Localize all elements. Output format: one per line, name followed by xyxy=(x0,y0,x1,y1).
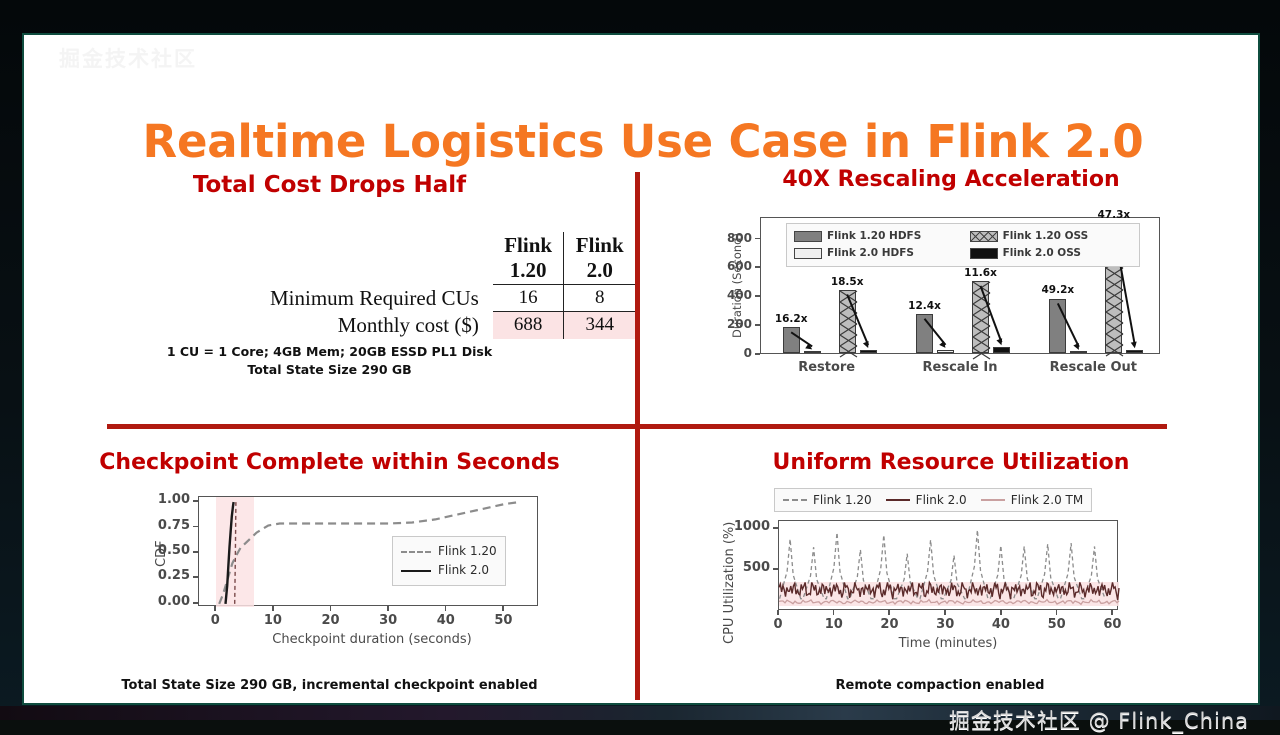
quadrant-resource-utilization: Uniform Resource Utilization CPU Utiliza… xyxy=(640,450,1262,700)
cpu-xtick-mark xyxy=(777,610,779,615)
cost-table: Flink 1.20 Flink 2.0 Minimum Required CU… xyxy=(270,232,635,339)
watermark-top-left: 掘金技术社区 xyxy=(59,43,197,73)
cdf-ytick-mark xyxy=(193,551,198,553)
legend-label: Flink 2.0 HDFS xyxy=(827,247,914,259)
cpu-xtick-mark xyxy=(944,610,946,615)
cpu-legend-item: Flink 2.0 xyxy=(886,493,967,507)
legend-label: Flink 2.0 xyxy=(438,561,489,580)
table-corner-cell xyxy=(270,232,493,285)
bar-legend-row: Flink 2.0 HDFSFlink 2.0 OSS xyxy=(793,245,1133,262)
quadrant3-title: Checkpoint Complete within Seconds xyxy=(24,450,635,475)
legend-swatch-icon xyxy=(794,248,822,259)
legend-label: Flink 2.0 TM xyxy=(1011,493,1084,507)
legend-line-icon xyxy=(783,499,807,501)
cell-monthly-cost-flink20: 344 xyxy=(564,312,635,339)
cdf-chart-legend: Flink 1.20Flink 2.0 xyxy=(392,536,506,586)
table-row: Minimum Required CUs 16 8 xyxy=(270,285,635,312)
cdf-xtick-label: 0 xyxy=(199,613,231,628)
cdf-ytick-mark xyxy=(193,576,198,578)
cdf-ytick-mark xyxy=(193,602,198,604)
cell-min-cus-flink120: 16 xyxy=(493,285,564,312)
cpu-chart-figure: CPU Utilization (%) 50010000102030405060… xyxy=(718,490,1188,665)
quadrant4-title: Uniform Resource Utilization xyxy=(640,450,1262,475)
cpu-xtick-mark xyxy=(1111,610,1113,615)
quadrant2-title: 40X Rescaling Acceleration xyxy=(640,167,1262,192)
quadrant1-title: Total Cost Drops Half xyxy=(24,172,635,198)
cpu-chart-legend: Flink 1.20Flink 2.0Flink 2.0 TM xyxy=(774,488,1092,512)
bar-ytick-label: 200 xyxy=(722,317,752,331)
bar-ytick-label: 800 xyxy=(722,231,752,245)
page-title: Realtime Logistics Use Case in Flink 2.0 xyxy=(24,115,1262,168)
quadrant4-caption: Remote compaction enabled xyxy=(640,678,1240,693)
legend-label: Flink 2.0 xyxy=(916,493,967,507)
cdf-xtick-label: 20 xyxy=(315,613,347,628)
cdf-xtick-mark xyxy=(330,606,332,611)
bar-annotation: 47.3x xyxy=(1090,209,1138,221)
cdf-line-Flink-2-0 xyxy=(226,502,234,604)
cdf-legend-item: Flink 2.0 xyxy=(401,561,497,580)
cpu-xtick-label: 10 xyxy=(818,617,850,632)
table-row: Monthly cost ($) 688 344 xyxy=(270,312,635,339)
cpu-ytick-mark xyxy=(773,568,778,570)
cdf-ytick-label: 1.00 xyxy=(148,492,190,507)
quadrant1-note: 1 CU = 1 Core; 4GB Mem; 20GB ESSD PL1 Di… xyxy=(24,343,635,379)
cpu-series-layer xyxy=(779,521,1119,611)
slide-canvas: 掘金技术社区 Realtime Logistics Use Case in Fl… xyxy=(22,33,1260,705)
cdf-xtick-mark xyxy=(445,606,447,611)
cell-monthly-cost-flink120: 688 xyxy=(493,312,564,339)
cpu-ytick-mark xyxy=(773,527,778,529)
cdf-xtick-mark xyxy=(214,606,216,611)
cpu-xtick-label: 60 xyxy=(1096,617,1128,632)
cpu-chart-axes xyxy=(778,520,1118,610)
quadrant3-caption: Total State Size 290 GB, incremental che… xyxy=(24,678,635,693)
legend-line-icon xyxy=(401,570,431,572)
legend-line-icon xyxy=(886,499,910,501)
bar-ytick-mark xyxy=(755,266,760,268)
cdf-chart-xlabel: Checkpoint duration (seconds) xyxy=(172,632,572,647)
cdf-ytick-label: 0.00 xyxy=(148,594,190,609)
bar-ytick-mark xyxy=(755,353,760,355)
bar-ytick-mark xyxy=(755,238,760,240)
cdf-xtick-mark xyxy=(387,606,389,611)
legend-swatch-icon xyxy=(970,231,998,242)
bar-legend-row: Flink 1.20 HDFSFlink 1.20 OSS xyxy=(793,228,1133,245)
table-header-row: Flink 1.20 Flink 2.0 xyxy=(270,232,635,285)
bar-ytick-label: 400 xyxy=(722,288,752,302)
bar-ytick-label: 0 xyxy=(722,346,752,360)
slide-frame: 掘金技术社区 Realtime Logistics Use Case in Fl… xyxy=(0,0,1280,720)
note-line-1: 1 CU = 1 Core; 4GB Mem; 20GB ESSD PL1 Di… xyxy=(24,343,635,361)
legend-swatch-icon xyxy=(794,231,822,242)
watermark-bottom-right: 掘金技术社区 @ Flink_China xyxy=(904,705,1249,735)
cpu-xtick-mark xyxy=(1000,610,1002,615)
cdf-ytick-label: 0.25 xyxy=(148,568,190,583)
legend-line-icon xyxy=(981,499,1005,501)
legend-line-icon xyxy=(401,551,431,553)
legend-swatch-icon xyxy=(970,248,998,259)
cdf-legend-item: Flink 1.20 xyxy=(401,542,497,561)
bar-ytick-mark xyxy=(755,295,760,297)
cdf-ytick-mark xyxy=(193,526,198,528)
cdf-ytick-mark xyxy=(193,500,198,502)
legend-label: Flink 1.20 xyxy=(438,542,497,561)
row-label-min-cus: Minimum Required CUs xyxy=(270,285,493,312)
bar-group-label-rescale-out: Rescale Out xyxy=(1027,360,1160,375)
cpu-ytick-label: 500 xyxy=(724,560,770,575)
cell-min-cus-flink20: 8 xyxy=(564,285,635,312)
cpu-line-flink-20-tm xyxy=(779,600,1119,605)
cdf-xtick-label: 30 xyxy=(372,613,404,628)
quadrant-rescaling: 40X Rescaling Acceleration Duration (Sec… xyxy=(640,167,1262,424)
bar-legend-item: Flink 1.20 HDFS xyxy=(793,228,969,245)
cpu-chart-ylabel: CPU Utilization (%) xyxy=(722,522,737,644)
cdf-xtick-mark xyxy=(272,606,274,611)
col-header-flink120: Flink 1.20 xyxy=(493,232,564,285)
bar-legend-item: Flink 1.20 OSS xyxy=(969,228,1133,245)
cdf-xtick-label: 50 xyxy=(487,613,519,628)
legend-label: Flink 1.20 HDFS xyxy=(827,230,921,242)
cpu-xtick-label: 20 xyxy=(873,617,905,632)
bar-legend-item: Flink 2.0 OSS xyxy=(969,245,1133,262)
legend-label: Flink 2.0 OSS xyxy=(1003,247,1081,259)
bar-legend-item: Flink 2.0 HDFS xyxy=(793,245,969,262)
row-label-monthly-cost: Monthly cost ($) xyxy=(270,312,493,339)
cdf-xtick-label: 10 xyxy=(257,613,289,628)
bar-group-label-rescale-in: Rescale In xyxy=(893,360,1026,375)
cdf-line-aux xyxy=(235,502,236,604)
cdf-chart-figure: CDF 0.000.250.500.751.0001020304050Check… xyxy=(152,492,582,652)
quadrant-checkpoint: Checkpoint Complete within Seconds CDF 0… xyxy=(24,450,635,700)
cpu-ytick-label: 1000 xyxy=(724,519,770,534)
legend-label: Flink 1.20 OSS xyxy=(1003,230,1089,242)
bar-group-label-restore: Restore xyxy=(760,360,893,375)
note-line-2: Total State Size 290 GB xyxy=(24,361,635,379)
cpu-xtick-label: 50 xyxy=(1041,617,1073,632)
cdf-ytick-label: 0.75 xyxy=(148,518,190,533)
bar-chart-figure: Duration (Second) 16.2x18.5x12.4x11.6x49… xyxy=(728,215,1172,385)
cpu-xtick-label: 40 xyxy=(985,617,1017,632)
quadrant-total-cost: Total Cost Drops Half Flink 1.20 Flink 2… xyxy=(24,167,635,424)
cpu-xtick-label: 30 xyxy=(929,617,961,632)
cdf-xtick-label: 40 xyxy=(430,613,462,628)
cpu-xtick-mark xyxy=(888,610,890,615)
cdf-ytick-label: 0.50 xyxy=(148,543,190,558)
legend-label: Flink 1.20 xyxy=(813,493,872,507)
cpu-xtick-mark xyxy=(1056,610,1058,615)
cpu-legend-item: Flink 1.20 xyxy=(783,493,872,507)
cpu-legend-item: Flink 2.0 TM xyxy=(981,493,1084,507)
cpu-xtick-mark xyxy=(833,610,835,615)
cdf-xtick-mark xyxy=(502,606,504,611)
cpu-chart-xlabel: Time (minutes) xyxy=(758,636,1138,651)
cpu-xtick-label: 0 xyxy=(762,617,794,632)
bar-chart-legend: Flink 1.20 HDFSFlink 1.20 OSSFlink 2.0 H… xyxy=(786,223,1140,267)
col-header-flink20: Flink 2.0 xyxy=(564,232,635,285)
bar-ytick-label: 600 xyxy=(722,259,752,273)
bar-legend-table: Flink 1.20 HDFSFlink 1.20 OSSFlink 2.0 H… xyxy=(793,228,1133,262)
bar-ytick-mark xyxy=(755,324,760,326)
